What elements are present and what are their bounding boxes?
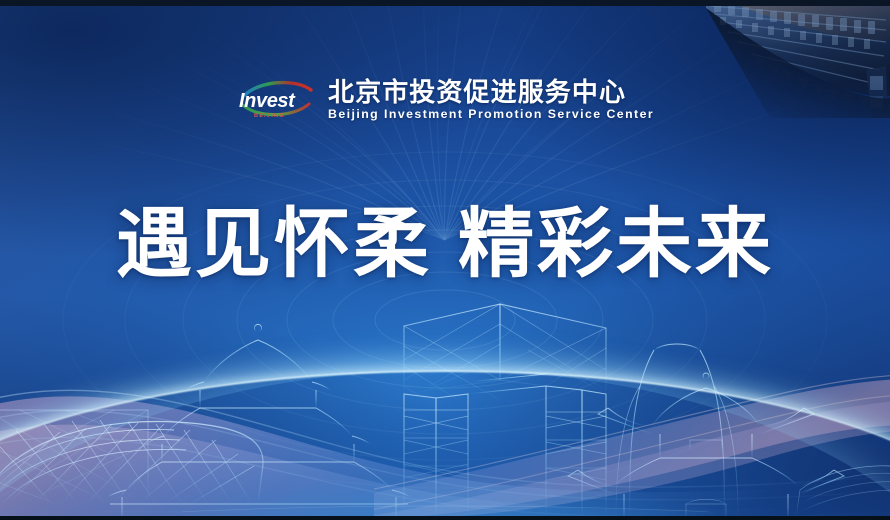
org-name-en: Beijing Investment Promotion Service Cen… (328, 108, 654, 122)
svg-text:Invest: Invest (239, 90, 296, 112)
headline-part-1: 遇见怀柔 (116, 202, 432, 287)
headline-part-2: 精彩未来 (458, 202, 774, 287)
page-title: 遇见怀柔精彩未来 (0, 207, 890, 283)
letterbox-bar-top (0, 0, 890, 6)
svg-text:BEIJING: BEIJING (254, 113, 285, 119)
org-name-cn: 北京市投资促进服务中心 (328, 78, 654, 106)
letterbox-bar-bottom (0, 516, 890, 520)
banner-stage: Invest BEIJING 北京市投资促进服务中心 Beijing Inves… (0, 0, 890, 520)
brand-header: Invest BEIJING 北京市投资促进服务中心 Beijing Inves… (237, 78, 654, 122)
invest-swoosh-icon: Invest BEIJING (237, 78, 315, 122)
dougong-eave-photo (680, 0, 890, 118)
flowing-wave-ribbons-right (374, 345, 890, 520)
